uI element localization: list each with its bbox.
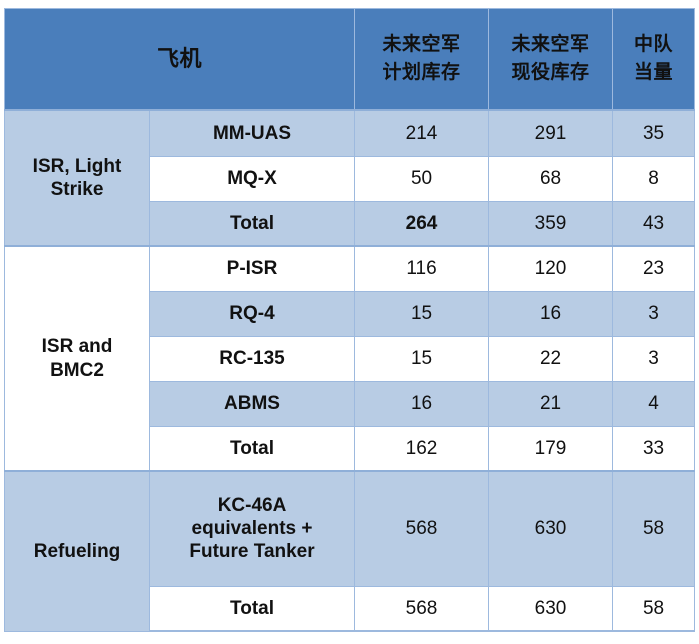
table-row: ISR, Light Strike MM-UAS 214 291 35 (5, 110, 695, 156)
cell-squadrons-rq-4: 3 (613, 291, 695, 336)
row-name-rc-135: RC-135 (150, 336, 355, 381)
header-squadron-equivalents-line2: 当量 (613, 59, 694, 87)
cell-planned-mm-uas: 214 (355, 110, 489, 156)
row-name-abms: ABMS (150, 381, 355, 426)
row-name-isr-bmc2-total: Total (150, 426, 355, 471)
header-planned-inventory-line1: 未来空军 (355, 31, 488, 59)
cell-active-isr-bmc2-total: 179 (489, 426, 613, 471)
table-row: Refueling KC-46A equivalents + Future Ta… (5, 471, 695, 586)
cell-active-isr-light-strike-total: 359 (489, 201, 613, 246)
header-active-inventory-line2: 现役库存 (489, 59, 612, 87)
header-aircraft: 飞机 (5, 9, 355, 111)
cell-squadrons-kc-46a-equivalents: 58 (613, 471, 695, 586)
header-row: 飞机 未来空军 计划库存 未来空军 现役库存 中队 当量 (5, 9, 695, 111)
cell-active-mq-x: 68 (489, 156, 613, 201)
cell-active-rc-135: 22 (489, 336, 613, 381)
cell-planned-mq-x: 50 (355, 156, 489, 201)
cell-planned-refueling-total: 568 (355, 586, 489, 631)
cell-squadrons-abms: 4 (613, 381, 695, 426)
cell-active-kc-46a-equivalents: 630 (489, 471, 613, 586)
row-name-line1: KC-46A (150, 494, 354, 517)
cell-squadrons-isr-bmc2-total: 33 (613, 426, 695, 471)
header-squadron-equivalents-line1: 中队 (613, 31, 694, 59)
cell-planned-isr-bmc2-total: 162 (355, 426, 489, 471)
cell-squadrons-mm-uas: 35 (613, 110, 695, 156)
row-name-line2: equivalents + (150, 517, 354, 540)
row-name-line3: Future Tanker (150, 540, 354, 563)
cell-planned-rc-135: 15 (355, 336, 489, 381)
row-name-mq-x: MQ-X (150, 156, 355, 201)
table-header: 飞机 未来空军 计划库存 未来空军 现役库存 中队 当量 (5, 9, 695, 111)
header-planned-inventory: 未来空军 计划库存 (355, 9, 489, 111)
cell-active-rq-4: 16 (489, 291, 613, 336)
aircraft-inventory-table-container: 飞机 未来空军 计划库存 未来空军 现役库存 中队 当量 ISR, (4, 8, 694, 632)
table-row: ISR and BMC2 P-ISR 116 120 23 (5, 246, 695, 291)
header-squadron-equivalents: 中队 当量 (613, 9, 695, 111)
cell-planned-isr-light-strike-total: 264 (355, 201, 489, 246)
cell-squadrons-isr-light-strike-total: 43 (613, 201, 695, 246)
header-active-inventory: 未来空军 现役库存 (489, 9, 613, 111)
cell-squadrons-mq-x: 8 (613, 156, 695, 201)
row-name-p-isr: P-ISR (150, 246, 355, 291)
cell-planned-p-isr: 116 (355, 246, 489, 291)
group-label-refueling: Refueling (5, 471, 150, 631)
group-label-line1: ISR, Light (5, 155, 149, 178)
cell-squadrons-rc-135: 3 (613, 336, 695, 381)
cell-planned-abms: 16 (355, 381, 489, 426)
cell-active-p-isr: 120 (489, 246, 613, 291)
cell-active-refueling-total: 630 (489, 586, 613, 631)
cell-active-mm-uas: 291 (489, 110, 613, 156)
row-name-kc-46a-equivalents: KC-46A equivalents + Future Tanker (150, 471, 355, 586)
cell-planned-kc-46a-equivalents: 568 (355, 471, 489, 586)
cell-squadrons-refueling-total: 58 (613, 586, 695, 631)
header-planned-inventory-line2: 计划库存 (355, 59, 488, 87)
group-label-line1: ISR and (5, 335, 149, 358)
row-name-isr-light-strike-total: Total (150, 201, 355, 246)
cell-planned-rq-4: 15 (355, 291, 489, 336)
group-label-isr-and-bmc2: ISR and BMC2 (5, 246, 150, 471)
row-name-mm-uas: MM-UAS (150, 110, 355, 156)
row-name-rq-4: RQ-4 (150, 291, 355, 336)
aircraft-inventory-table: 飞机 未来空军 计划库存 未来空军 现役库存 中队 当量 ISR, (4, 8, 695, 632)
group-label-line2: BMC2 (5, 359, 149, 382)
cell-squadrons-p-isr: 23 (613, 246, 695, 291)
group-label-line2: Strike (5, 178, 149, 201)
header-active-inventory-line1: 未来空军 (489, 31, 612, 59)
cell-active-abms: 21 (489, 381, 613, 426)
row-name-refueling-total: Total (150, 586, 355, 631)
table-body: ISR, Light Strike MM-UAS 214 291 35 MQ-X… (5, 110, 695, 631)
group-label-isr-light-strike: ISR, Light Strike (5, 110, 150, 246)
